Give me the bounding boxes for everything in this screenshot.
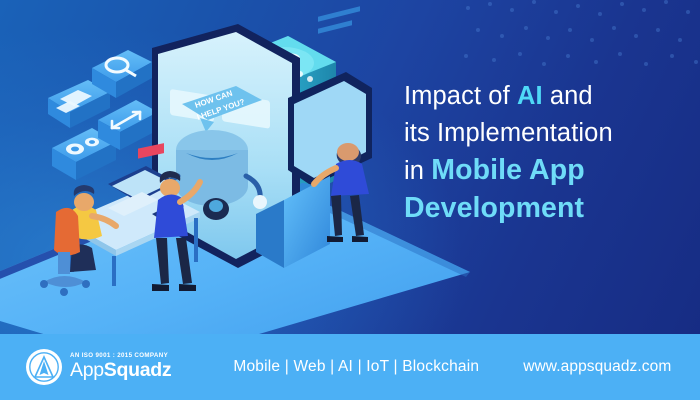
brand-name-squadz: Squadz [104, 359, 172, 381]
headline: Impact of AI and its Implementation in M… [404, 78, 690, 227]
services-list: Mobile | Web | AI | IoT | Blockchain [233, 358, 479, 376]
brand-name: AppSquadz [70, 361, 171, 381]
kiosk-chart-line [318, 6, 360, 21]
headline-line-3: in Mobile App [404, 152, 690, 190]
floating-icon-cards [48, 50, 158, 180]
headline-line-2: its Implementation [404, 115, 690, 152]
headline-line-1-part-1: Impact of [404, 82, 517, 110]
appsquadz-triangle-logo-icon [26, 349, 62, 385]
logo-glyph [29, 352, 59, 382]
website-url[interactable]: www.appsquadz.com [523, 358, 671, 376]
footer-bar: AN ISO 9001 : 2015 COMPANY AppSquadz Mob… [0, 334, 700, 400]
brand-name-app: App [70, 359, 104, 381]
kiosk-chart-line [318, 20, 352, 33]
brand-logo-text: AN ISO 9001 : 2015 COMPANY AppSquadz [70, 353, 171, 381]
headline-accent-ai: AI [517, 82, 543, 110]
headline-line-3-prefix: in [404, 157, 431, 185]
brand-logo[interactable]: AN ISO 9001 : 2015 COMPANY AppSquadz [26, 349, 171, 385]
headline-line-1-part-2: and [543, 82, 593, 110]
banner: HOW CAN I HELP YOU? [0, 0, 700, 400]
headline-line-1: Impact of AI and [404, 78, 690, 115]
headline-emphasis-mobile-app: Mobile App [431, 154, 585, 186]
headline-emphasis-development: Development [404, 190, 690, 227]
